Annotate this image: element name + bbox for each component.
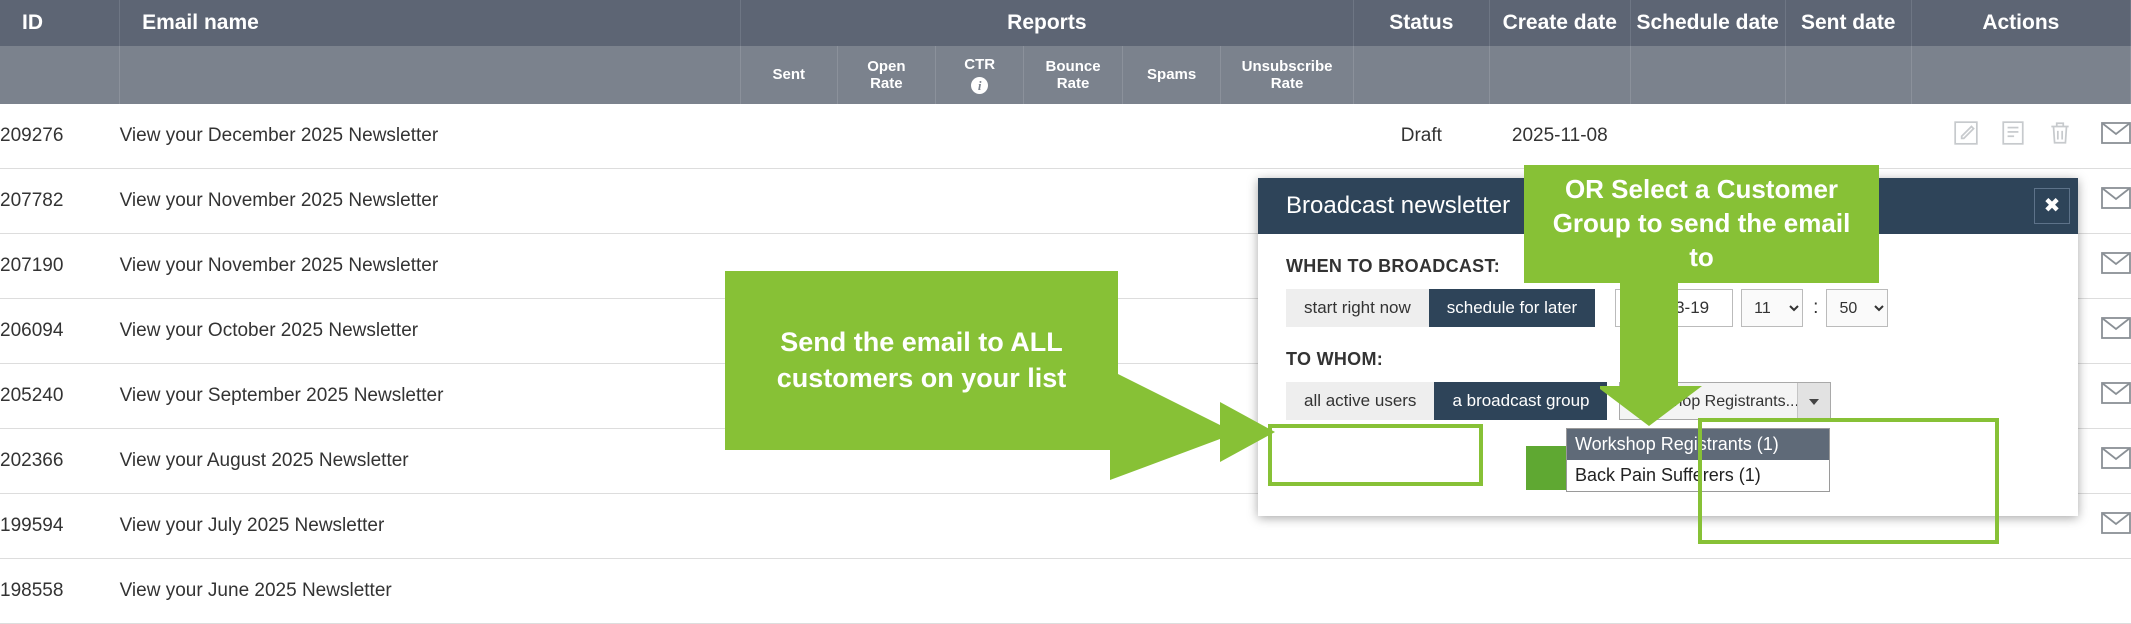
subheader-blank-actions — [1911, 46, 2130, 104]
row-sent-date — [1785, 559, 1911, 624]
start-right-now-button[interactable]: start right now — [1286, 289, 1429, 327]
when-to-broadcast-options: start right now schedule for later 11 : … — [1286, 289, 2050, 327]
row-open-rate — [837, 104, 936, 169]
subheader-spams: Spams — [1122, 46, 1221, 104]
row-email-name[interactable]: View your December 2025 Newsletter — [120, 104, 741, 169]
row-spams — [1122, 234, 1221, 299]
envelope-icon[interactable] — [2101, 252, 2131, 280]
row-schedule-date — [1630, 104, 1785, 169]
row-email-name[interactable]: View your July 2025 Newsletter — [120, 494, 741, 559]
row-create-date — [1490, 559, 1631, 624]
row-open-rate — [837, 494, 936, 559]
subheader-blank-name — [120, 46, 741, 104]
row-spams — [1122, 364, 1221, 429]
trash-icon[interactable] — [2047, 120, 2073, 152]
table-row[interactable]: 198558 View your June 2025 Newsletter — [0, 559, 2131, 624]
row-ctr — [936, 494, 1024, 559]
header-schedule-date: Schedule date — [1630, 0, 1785, 46]
envelope-icon[interactable] — [2101, 447, 2131, 475]
row-sent — [741, 169, 838, 234]
row-schedule-date — [1630, 559, 1785, 624]
subheader-ctr-label: CTR — [964, 56, 995, 73]
row-spams — [1122, 104, 1221, 169]
row-spams — [1122, 494, 1221, 559]
row-email-name[interactable]: View your November 2025 Newsletter — [120, 169, 741, 234]
row-status: Draft — [1353, 104, 1489, 169]
broadcast-group-select[interactable]: Workshop Registrants... — [1619, 382, 1831, 420]
header-reports: Reports — [741, 0, 1354, 46]
chevron-down-icon[interactable] — [1797, 383, 1830, 419]
subheader-blank-sent — [1785, 46, 1911, 104]
schedule-for-later-button[interactable]: schedule for later — [1429, 289, 1595, 327]
row-spams — [1122, 299, 1221, 364]
row-open-rate — [837, 559, 936, 624]
row-sent-date — [1785, 104, 1911, 169]
time-separator: : — [1813, 297, 1818, 319]
header-status: Status — [1353, 0, 1489, 46]
row-sent — [741, 559, 838, 624]
subheader-sent: Sent — [741, 46, 838, 104]
row-unsubscribe-rate — [1221, 104, 1353, 169]
row-id[interactable]: 207782 — [0, 169, 120, 234]
row-actions — [1911, 559, 2130, 624]
row-bounce-rate — [1024, 559, 1123, 624]
copy-icon[interactable] — [2000, 120, 2026, 152]
callout-customer-group: OR Select a Customer Group to send the e… — [1524, 165, 1879, 283]
envelope-icon[interactable] — [2101, 317, 2131, 345]
row-spams — [1122, 169, 1221, 234]
dropdown-option-back-pain-sufferers[interactable]: Back Pain Sufferers (1) — [1567, 460, 1829, 491]
row-email-name[interactable]: View your September 2025 Newsletter — [120, 364, 741, 429]
row-id[interactable]: 202366 — [0, 429, 120, 494]
close-icon[interactable]: ✖ — [2034, 188, 2070, 224]
header-sent-date: Sent date — [1785, 0, 1911, 46]
row-id[interactable]: 198558 — [0, 559, 120, 624]
row-email-name[interactable]: View your October 2025 Newsletter — [120, 299, 741, 364]
envelope-icon[interactable] — [2101, 382, 2131, 410]
subheader-blank-status — [1353, 46, 1489, 104]
row-email-name[interactable]: View your August 2025 Newsletter — [120, 429, 741, 494]
subheader-blank-create — [1490, 46, 1631, 104]
table-subheader-row: Sent OpenRate CTR i BounceRate Spams Uns… — [0, 46, 2131, 104]
to-whom-label: TO WHOM: — [1286, 349, 2050, 370]
to-whom-options: all active users a broadcast group Works… — [1286, 382, 2050, 420]
header-email-name: Email name — [120, 0, 741, 46]
row-email-name[interactable]: View your November 2025 Newsletter — [120, 234, 741, 299]
row-status — [1353, 559, 1489, 624]
row-id[interactable]: 205240 — [0, 364, 120, 429]
dropdown-option-workshop-registrants[interactable]: Workshop Registrants (1) — [1567, 429, 1829, 460]
row-ctr — [936, 559, 1024, 624]
row-spams — [1122, 559, 1221, 624]
subheader-unsubscribe-rate: UnsubscribeRate — [1221, 46, 1353, 104]
row-actions — [1911, 104, 2130, 169]
row-sent — [741, 494, 838, 559]
a-broadcast-group-button[interactable]: a broadcast group — [1434, 382, 1607, 420]
row-open-rate — [837, 169, 936, 234]
subheader-bounce-rate: BounceRate — [1024, 46, 1123, 104]
row-ctr — [936, 169, 1024, 234]
envelope-icon[interactable] — [2101, 122, 2131, 150]
row-id[interactable]: 199594 — [0, 494, 120, 559]
modal-title: Broadcast newsletter — [1258, 192, 1510, 220]
row-bounce-rate — [1024, 494, 1123, 559]
subheader-blank-schedule — [1630, 46, 1785, 104]
row-ctr — [936, 104, 1024, 169]
subheader-ctr: CTR i — [936, 46, 1024, 104]
broadcast-group-dropdown[interactable]: Workshop Registrants (1) Back Pain Suffe… — [1566, 428, 1830, 492]
schedule-date-input[interactable] — [1615, 289, 1733, 327]
header-actions: Actions — [1911, 0, 2130, 46]
envelope-icon[interactable] — [2101, 512, 2131, 540]
info-icon[interactable]: i — [971, 77, 988, 94]
row-bounce-rate — [1024, 169, 1123, 234]
row-bounce-rate — [1024, 104, 1123, 169]
row-unsubscribe-rate — [1221, 559, 1353, 624]
schedule-hour-select[interactable]: 11 — [1741, 289, 1803, 327]
header-create-date: Create date — [1490, 0, 1631, 46]
row-sent — [741, 104, 838, 169]
all-active-users-button[interactable]: all active users — [1286, 382, 1434, 420]
table-header-row: ID Email name Reports Status Create date… — [0, 0, 2131, 46]
edit-icon[interactable] — [1953, 120, 1979, 152]
row-spams — [1122, 429, 1221, 494]
table-row[interactable]: 209276 View your December 2025 Newslette… — [0, 104, 2131, 169]
envelope-icon[interactable] — [2101, 187, 2131, 215]
schedule-minute-select[interactable]: 50 — [1826, 289, 1888, 327]
subheader-open-rate: OpenRate — [837, 46, 936, 104]
row-id[interactable]: 207190 — [0, 234, 120, 299]
header-id: ID — [0, 0, 120, 46]
subheader-blank-id — [0, 46, 120, 104]
row-id[interactable]: 206094 — [0, 299, 120, 364]
row-email-name[interactable]: View your June 2025 Newsletter — [120, 559, 741, 624]
row-id[interactable]: 209276 — [0, 104, 120, 169]
row-create-date: 2025-11-08 — [1490, 104, 1631, 169]
callout-all-customers: Send the email to ALL customers on your … — [725, 271, 1118, 450]
